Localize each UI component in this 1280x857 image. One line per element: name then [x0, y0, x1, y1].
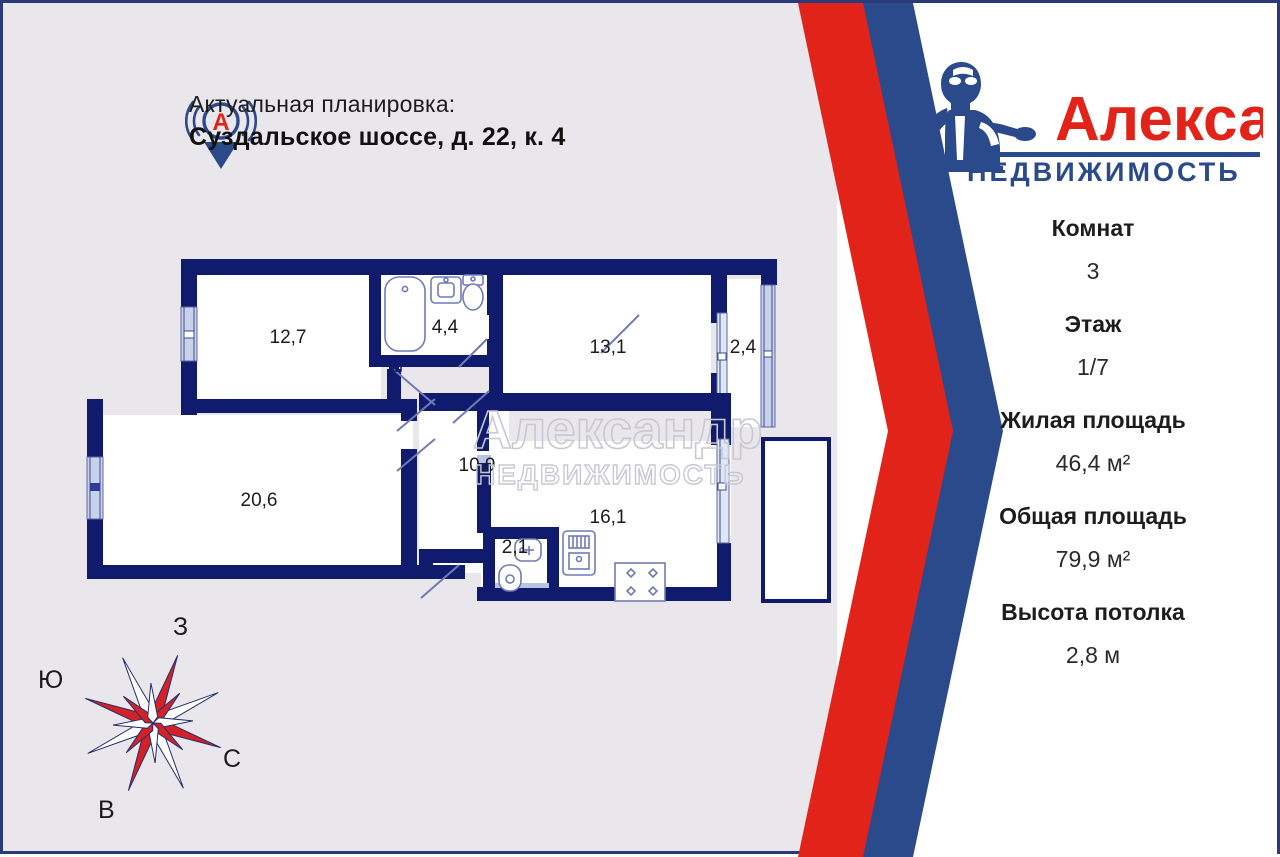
spec-label-ceiling: Высота потолка	[863, 599, 1280, 626]
room-label-hallway: 10,9	[459, 455, 496, 476]
wc-toilet-icon	[499, 565, 521, 591]
sink-icon	[431, 277, 461, 303]
spec-value-floor: 1/7	[863, 354, 1280, 381]
brand-subtitle: НЕДВИЖИМОСТЬ	[967, 157, 1241, 187]
room-label-wc: 2,1	[502, 537, 528, 558]
property-specs: Комнат 3 Этаж 1/7 Жилая площадь 46,4 м² …	[863, 215, 1280, 669]
compass-rose-icon	[83, 653, 222, 792]
brand-name: Александр	[1055, 85, 1263, 154]
compass-label-west: З	[173, 613, 188, 642]
compass-label-north: С	[223, 745, 241, 774]
brand-logo: Александр НЕДВИЖИМОСТЬ	[903, 48, 1263, 188]
bathtub-icon	[385, 277, 425, 351]
spec-label-total-area: Общая площадь	[863, 503, 1280, 530]
spec-value-living-area: 46,4 м²	[863, 450, 1280, 477]
room-label-loggia: 2,4	[730, 337, 757, 358]
spec-value-total-area: 79,9 м²	[863, 546, 1280, 573]
room-label-bathroom: 4,4	[432, 317, 459, 338]
water-heater-icon	[563, 531, 595, 575]
spec-label-rooms: Комнат	[863, 215, 1280, 242]
floor-plan: 12,7 4,4 13,1 2,4 20,6 10,9 16,1 2,1	[63, 243, 833, 643]
stove-icon	[615, 563, 665, 601]
page-title: Суздальское шоссе, д. 22, к. 4	[189, 123, 565, 152]
compass: З Ю С В	[23, 608, 313, 843]
page-header: Актуальная планировка: Суздальское шоссе…	[189, 91, 565, 152]
toilet-icon	[463, 275, 483, 310]
spec-label-floor: Этаж	[863, 311, 1280, 338]
header-caption: Актуальная планировка:	[189, 91, 565, 118]
floorplan-listing-page: A Актуальная планировка: Суздальское шос…	[0, 0, 1280, 854]
room-label-bedroom-1: 12,7	[270, 327, 307, 348]
room-label-bedroom-2: 13,1	[590, 337, 627, 358]
compass-label-south: Ю	[38, 666, 63, 695]
spec-label-living-area: Жилая площадь	[863, 407, 1280, 434]
room-label-living-room: 20,6	[241, 490, 278, 511]
room-label-kitchen: 16,1	[590, 507, 627, 528]
spec-value-ceiling: 2,8 м	[863, 642, 1280, 669]
compass-label-east: В	[98, 796, 115, 825]
spec-value-rooms: 3	[863, 258, 1280, 285]
plan-walls	[87, 259, 777, 601]
